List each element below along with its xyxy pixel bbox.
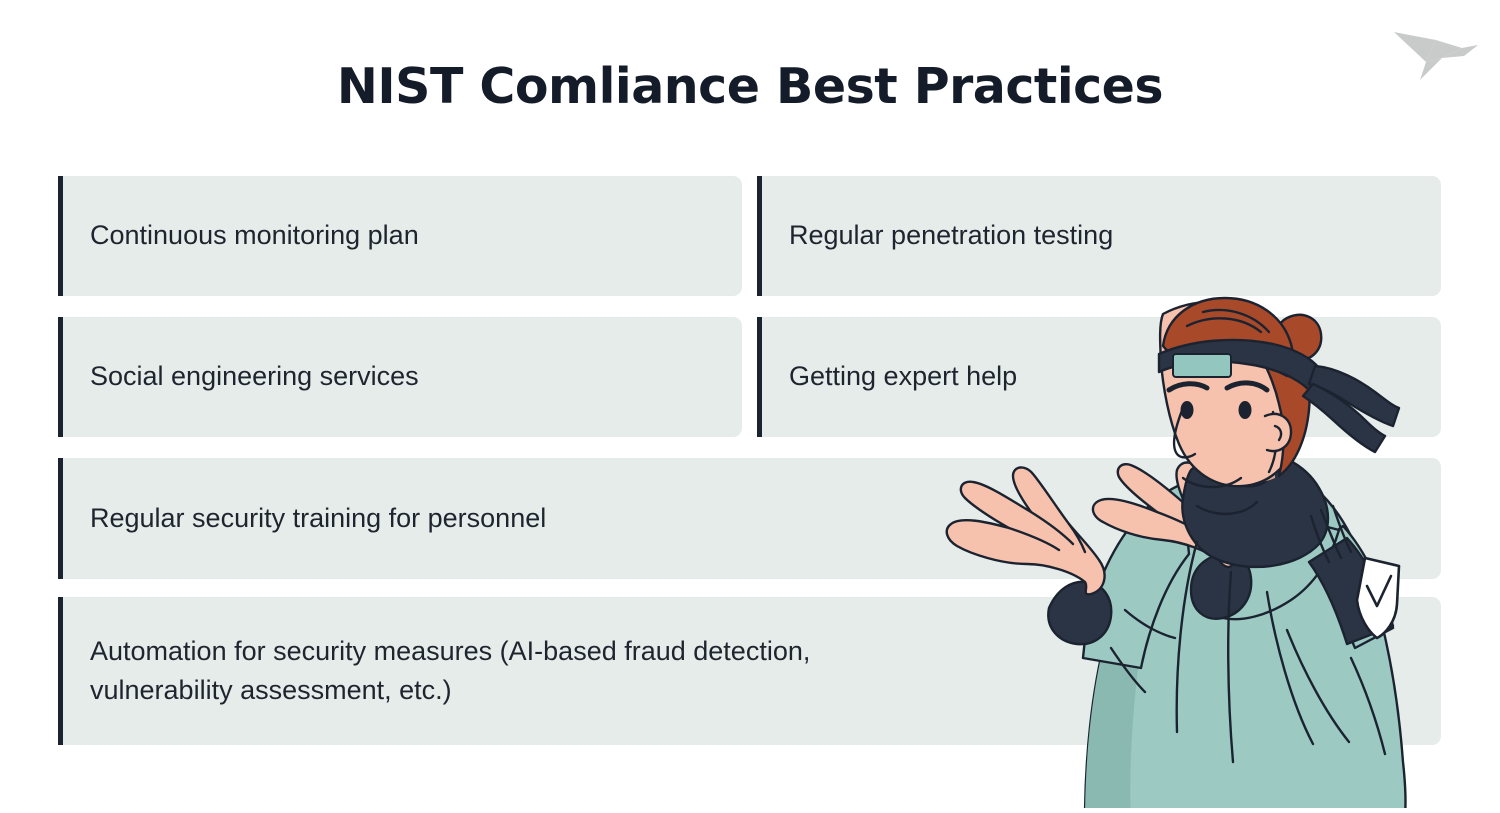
card-getting-expert-help[interactable]: Getting expert help <box>757 317 1441 437</box>
card-continuous-monitoring-plan[interactable]: Continuous monitoring plan <box>58 176 742 296</box>
best-practices-card-grid: Continuous monitoring plan Regular penet… <box>0 176 1500 776</box>
card-label: Regular security training for personnel <box>63 499 570 538</box>
card-regular-security-training[interactable]: Regular security training for personnel <box>58 458 1441 579</box>
card-label: Getting expert help <box>762 357 1041 396</box>
card-label: Automation for security measures (AI-bas… <box>63 632 944 710</box>
card-label: Continuous monitoring plan <box>63 216 443 255</box>
card-label: Regular penetration testing <box>762 216 1137 255</box>
card-automation-for-security-measures[interactable]: Automation for security measures (AI-bas… <box>58 597 1441 745</box>
card-social-engineering-services[interactable]: Social engineering services <box>58 317 742 437</box>
page-title: NIST Comliance Best Practices <box>0 58 1500 115</box>
card-label: Social engineering services <box>63 357 443 396</box>
card-regular-penetration-testing[interactable]: Regular penetration testing <box>757 176 1441 296</box>
